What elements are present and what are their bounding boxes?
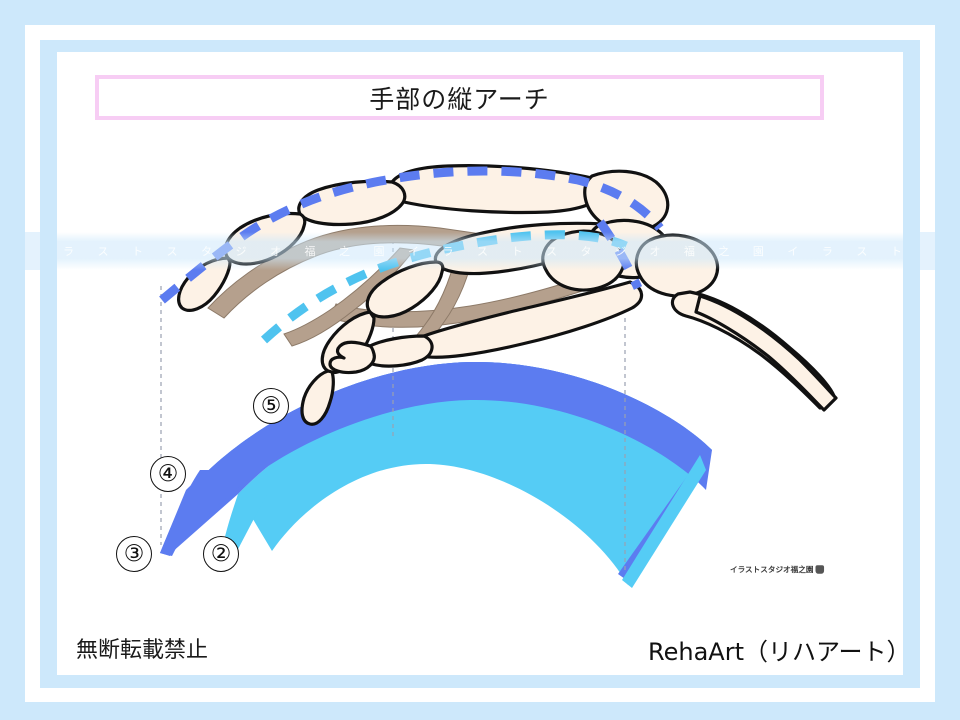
callout-2: ② (203, 536, 239, 572)
studio-logo-icon (815, 565, 824, 574)
watermark-band-left (0, 232, 57, 270)
watermark-band-right (903, 232, 960, 270)
callout-4: ④ (150, 456, 186, 492)
copyright-notice: 無断転載禁止 (76, 632, 208, 664)
title-box: 手部の縦アーチ (95, 75, 824, 120)
slide-canvas: 手部の縦アーチ (0, 0, 960, 720)
studio-watermark: イラストスタジオ福之園 (730, 564, 824, 574)
callout-3: ③ (116, 536, 152, 572)
callout-5: ⑤ (253, 388, 289, 424)
page-title: 手部の縦アーチ (369, 80, 550, 116)
watermark-band: ラ ス ト ス タ ジ オ 福 之 園 イ ラ ス ト ス タ ジ オ 福 之 … (57, 232, 903, 270)
watermark-band-text: ラ ス ト ス タ ジ オ 福 之 園 イ ラ ス ト ス タ ジ オ 福 之 … (57, 243, 903, 259)
brand-credit: RehaArt（リハアート） (648, 632, 911, 667)
slide-content-area (57, 52, 903, 675)
studio-watermark-text: イラストスタジオ福之園 (730, 564, 813, 574)
